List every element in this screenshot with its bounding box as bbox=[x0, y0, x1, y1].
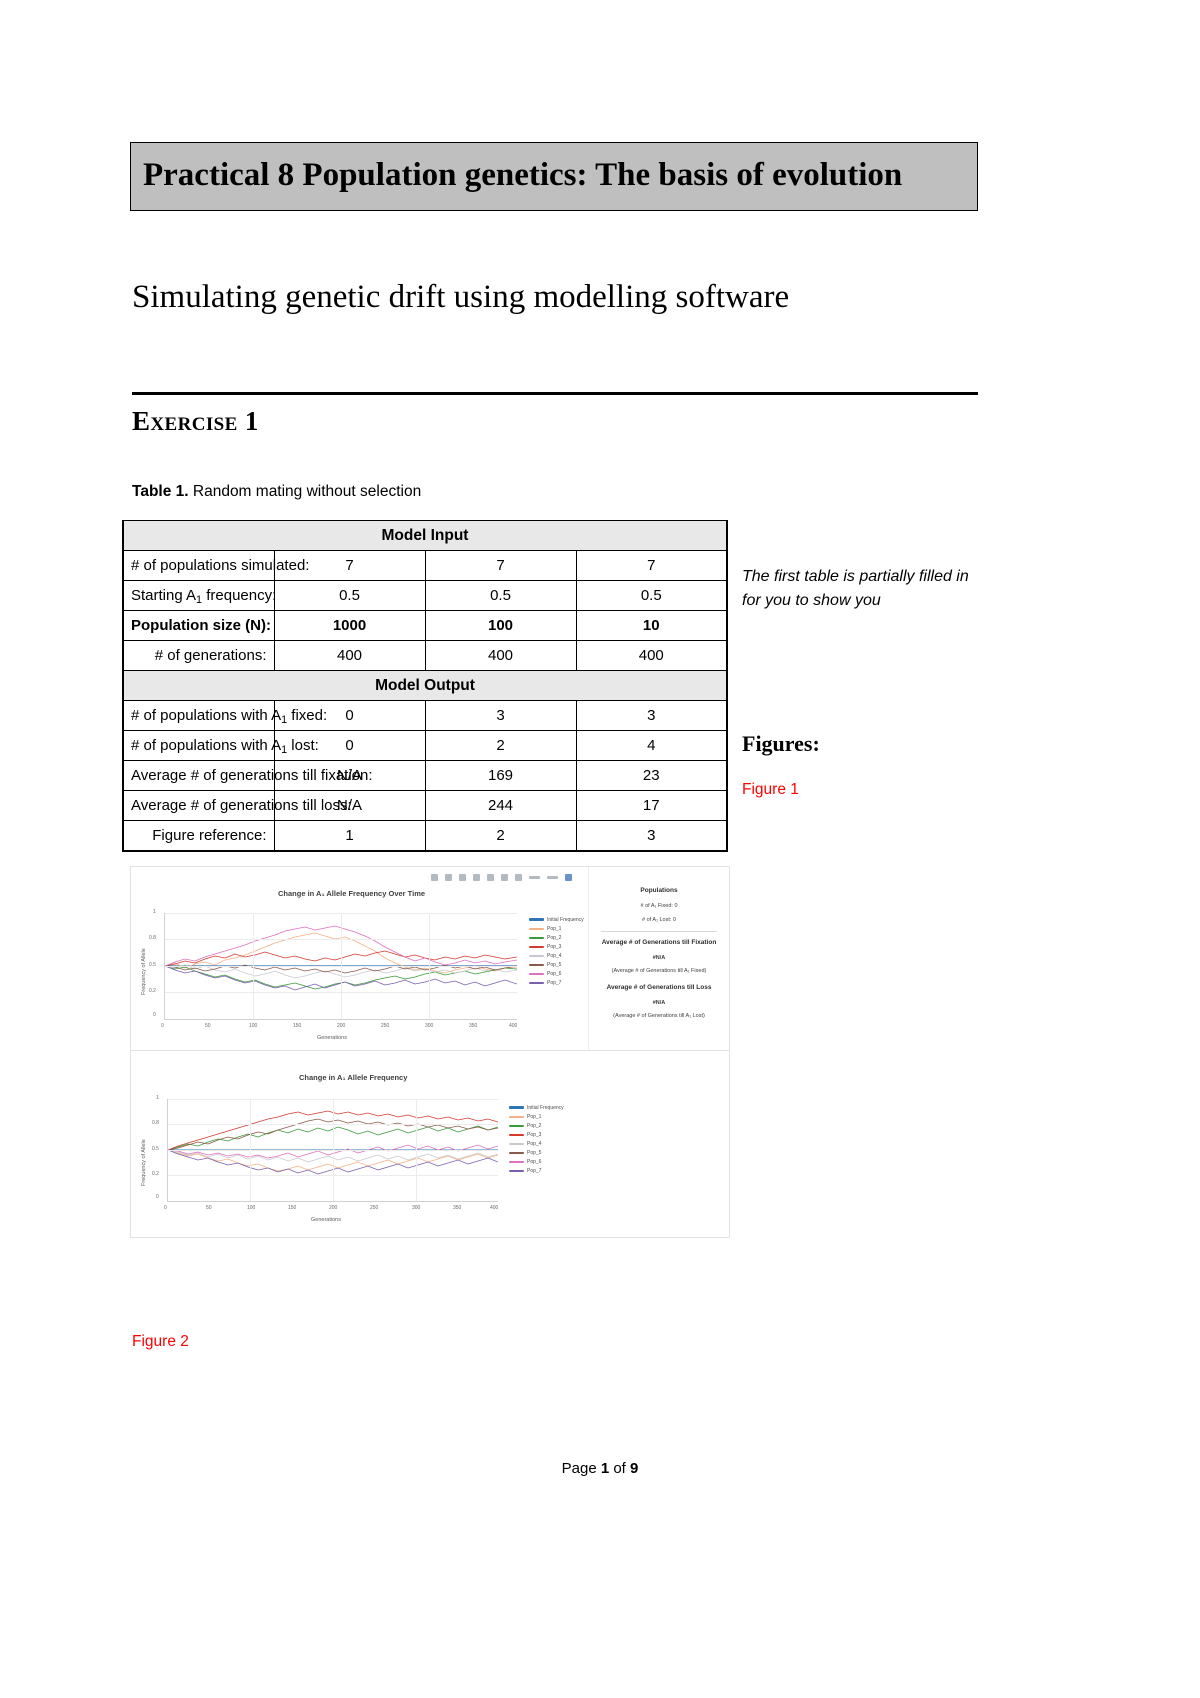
table-row: Population size (N): 1000 100 10 bbox=[123, 611, 727, 641]
row-label-figure-reference: Figure reference: bbox=[123, 821, 274, 852]
cell-value: 4 bbox=[576, 731, 727, 761]
section-label-model-output: Model Output bbox=[123, 671, 727, 701]
figure-2-screenshot: Change in A₁ Allele Frequency Frequency … bbox=[130, 1050, 730, 1238]
subscript-one: 1 bbox=[281, 714, 287, 726]
footer-page-number: 1 bbox=[601, 1460, 609, 1477]
legend-label: Pop_6 bbox=[527, 1159, 541, 1165]
instructor-note: The first table is partially filled in f… bbox=[742, 565, 970, 614]
legend-swatch bbox=[509, 1116, 524, 1118]
side-panel-fixation-note: (Average # of Generations till A₁ Fixed) bbox=[589, 968, 729, 974]
row-label-populations-lost: # of populations with A1 lost: bbox=[123, 731, 274, 761]
x-tick-label: 400 bbox=[509, 1023, 517, 1029]
legend-item: Pop_5 bbox=[509, 1148, 564, 1157]
legend-label: Pop_7 bbox=[547, 980, 561, 986]
cell-value: 2 bbox=[425, 821, 576, 852]
legend-swatch bbox=[509, 1125, 524, 1127]
sort-icon bbox=[515, 874, 522, 881]
legend-label: Initial Frequency bbox=[547, 917, 584, 923]
cell-value: 23 bbox=[576, 761, 727, 791]
legend-label: Pop_1 bbox=[547, 926, 561, 932]
y-tick-label: 0.8 bbox=[152, 1120, 159, 1126]
legend-item: Pop_3 bbox=[529, 942, 584, 951]
cell-value: 400 bbox=[274, 641, 425, 671]
plot-area: 0 50 100 150 200 250 300 350 400 1 0.8 0… bbox=[167, 1099, 498, 1202]
summary-side-panel: Populations # of A₁ Fixed: 0 # of A₁ Los… bbox=[588, 867, 729, 1051]
cell-value: 3 bbox=[576, 821, 727, 852]
x-tick-label: 0 bbox=[161, 1023, 164, 1029]
legend-swatch bbox=[509, 1106, 524, 1109]
legend-label: Pop_3 bbox=[547, 944, 561, 950]
legend-label: Pop_5 bbox=[547, 962, 561, 968]
y-tick-label: 1 bbox=[153, 909, 156, 915]
legend-item: Pop_2 bbox=[509, 1121, 564, 1130]
table-section-header-input: Model Input bbox=[123, 521, 727, 551]
figure-1-label: Figure 1 bbox=[742, 781, 799, 799]
legend-swatch bbox=[509, 1143, 524, 1145]
legend-label: Pop_1 bbox=[527, 1114, 541, 1120]
legend-swatch bbox=[509, 1152, 524, 1154]
figure-1-screenshot: Change in A₁ Allele Frequency Over Time … bbox=[130, 866, 730, 1052]
chart-title: Change in A₁ Allele Frequency bbox=[299, 1073, 407, 1082]
y-tick-label: 0 bbox=[156, 1194, 159, 1200]
save-icon bbox=[565, 874, 572, 881]
zoom-icon bbox=[445, 874, 452, 881]
x-tick-label: 250 bbox=[381, 1023, 389, 1029]
plot-area: 0 50 100 150 200 250 300 350 400 1 0.8 0… bbox=[164, 913, 517, 1020]
x-axis-title: Generations bbox=[311, 1217, 341, 1223]
y-tick-label: 1 bbox=[156, 1095, 159, 1101]
row-label-avg-generations-loss: Average # of generations till loss: bbox=[123, 791, 274, 821]
legend-swatch bbox=[529, 982, 544, 984]
x-tick-label: 100 bbox=[249, 1023, 257, 1029]
legend-label: Pop_4 bbox=[527, 1141, 541, 1147]
y-tick-label: 0 bbox=[153, 1012, 156, 1018]
cell-value: 1 bbox=[274, 821, 425, 852]
footer-prefix: Page bbox=[562, 1460, 601, 1477]
x-tick-label: 50 bbox=[206, 1205, 212, 1211]
legend-swatch bbox=[529, 937, 544, 939]
legend-item: Pop_7 bbox=[529, 978, 584, 987]
x-tick-label: 400 bbox=[490, 1205, 498, 1211]
cell-value: 2 bbox=[425, 731, 576, 761]
table-row: Average # of generations till loss: N/A … bbox=[123, 791, 727, 821]
side-panel-loss-value: #N/A bbox=[589, 1000, 729, 1006]
legend-item: Pop_1 bbox=[529, 924, 584, 933]
x-axis-title: Generations bbox=[317, 1035, 347, 1041]
filter-icon bbox=[459, 874, 466, 881]
section-divider bbox=[132, 392, 978, 395]
row-label-populations-fixed: # of populations with A1 fixed: bbox=[123, 701, 274, 731]
cell-value: 17 bbox=[576, 791, 727, 821]
page-title: Practical 8 Population genetics: The bas… bbox=[143, 153, 967, 198]
side-panel-loss-note: (Average # of Generations till A₁ Lost) bbox=[589, 1013, 729, 1019]
gridline bbox=[250, 1099, 251, 1201]
exercise-heading: Exercise 1 bbox=[132, 406, 259, 437]
legend-swatch bbox=[529, 964, 544, 966]
cell-value: 0.5 bbox=[425, 581, 576, 611]
align-center-icon bbox=[487, 874, 494, 881]
table-row: Figure reference: 1 2 3 bbox=[123, 821, 727, 852]
legend-swatch bbox=[529, 918, 544, 921]
border-icon bbox=[529, 876, 540, 879]
cell-value: 7 bbox=[576, 551, 727, 581]
x-tick-label: 300 bbox=[425, 1023, 433, 1029]
x-tick-label: 150 bbox=[288, 1205, 296, 1211]
legend-swatch bbox=[529, 973, 544, 975]
subscript-one: 1 bbox=[281, 744, 287, 756]
legend-item: Pop_2 bbox=[529, 933, 584, 942]
legend-item: Initial Frequency bbox=[509, 1103, 564, 1112]
cell-value: 400 bbox=[425, 641, 576, 671]
legend-item: Pop_3 bbox=[509, 1130, 564, 1139]
row-label-generations: # of generations: bbox=[123, 641, 274, 671]
cell-value: 100 bbox=[425, 611, 576, 641]
row-label-avg-generations-fixation: Average # of generations till fixation: bbox=[123, 761, 274, 791]
legend-item: Initial Frequency bbox=[529, 915, 584, 924]
cell-value: 3 bbox=[576, 701, 727, 731]
table-caption-text: Random mating without selection bbox=[189, 483, 422, 500]
table-caption-label: Table 1. bbox=[132, 483, 189, 500]
table-row: # of populations simulated: 7 7 7 bbox=[123, 551, 727, 581]
subscript-one: 1 bbox=[196, 594, 202, 606]
chart-title: Change in A₁ Allele Frequency Over Time bbox=[278, 889, 425, 898]
y-tick-label: 0.5 bbox=[149, 962, 156, 968]
legend-item: Pop_7 bbox=[509, 1166, 564, 1175]
legend-item: Pop_1 bbox=[509, 1112, 564, 1121]
side-panel-heading-populations: Populations bbox=[589, 887, 729, 894]
footer-total-pages: 9 bbox=[630, 1460, 638, 1477]
cell-value: 3 bbox=[425, 701, 576, 731]
fill-icon bbox=[547, 876, 558, 879]
legend-label: Pop_4 bbox=[547, 953, 561, 959]
align-left-icon bbox=[473, 874, 480, 881]
section-label-model-input: Model Input bbox=[123, 521, 727, 551]
spreadsheet-toolbar bbox=[431, 873, 591, 882]
gridline bbox=[253, 913, 254, 1019]
cell-value: 7 bbox=[425, 551, 576, 581]
table-row: # of populations with A1 fixed: 0 3 3 bbox=[123, 701, 727, 731]
x-tick-label: 300 bbox=[412, 1205, 420, 1211]
legend-label: Pop_7 bbox=[527, 1168, 541, 1174]
x-tick-label: 200 bbox=[337, 1023, 345, 1029]
table-row: # of generations: 400 400 400 bbox=[123, 641, 727, 671]
gridline bbox=[429, 913, 430, 1019]
y-tick-label: 0.5 bbox=[152, 1146, 159, 1152]
legend-label: Pop_6 bbox=[547, 971, 561, 977]
y-tick-label: 0.2 bbox=[152, 1171, 159, 1177]
legend-swatch bbox=[509, 1170, 524, 1172]
x-tick-label: 250 bbox=[370, 1205, 378, 1211]
caret-up-icon bbox=[501, 874, 508, 881]
legend-swatch bbox=[509, 1134, 524, 1136]
table-row: Starting A1 frequency: 0.5 0.5 0.5 bbox=[123, 581, 727, 611]
chart-legend: Initial Frequency Pop_1 Pop_2 Pop_3 Pop_… bbox=[509, 1103, 564, 1175]
page-footer: Page 1 of 9 bbox=[0, 1460, 1200, 1477]
figure-2-label: Figure 2 bbox=[132, 1333, 189, 1351]
side-panel-fixed-count: # of A₁ Fixed: 0 bbox=[589, 903, 729, 909]
legend-swatch bbox=[509, 1161, 524, 1163]
footer-middle: of bbox=[609, 1460, 630, 1477]
legend-item: Pop_6 bbox=[509, 1157, 564, 1166]
table-section-header-output: Model Output bbox=[123, 671, 727, 701]
cut-icon bbox=[431, 874, 438, 881]
legend-label: Pop_5 bbox=[527, 1150, 541, 1156]
y-axis-title: Frequency of Allele bbox=[141, 1139, 147, 1186]
legend-swatch bbox=[529, 928, 544, 930]
title-banner: Practical 8 Population genetics: The bas… bbox=[130, 142, 978, 211]
side-panel-divider bbox=[601, 931, 717, 932]
side-panel-lost-count: # of A₁ Lost: 0 bbox=[589, 917, 729, 923]
legend-item: Pop_4 bbox=[529, 951, 584, 960]
gridline bbox=[333, 1099, 334, 1201]
legend-item: Pop_5 bbox=[529, 960, 584, 969]
cell-value: 169 bbox=[425, 761, 576, 791]
x-tick-label: 100 bbox=[247, 1205, 255, 1211]
x-tick-label: 50 bbox=[205, 1023, 211, 1029]
cell-value: 0.5 bbox=[274, 581, 425, 611]
x-tick-label: 0 bbox=[164, 1205, 167, 1211]
figures-heading: Figures: bbox=[742, 731, 820, 757]
table-row: Average # of generations till fixation: … bbox=[123, 761, 727, 791]
table-caption: Table 1. Random mating without selection bbox=[132, 483, 421, 501]
cell-value: 10 bbox=[576, 611, 727, 641]
chart-legend: Initial Frequency Pop_1 Pop_2 Pop_3 Pop_… bbox=[529, 915, 584, 987]
gridline bbox=[341, 913, 342, 1019]
model-results-table: Model Input # of populations simulated: … bbox=[122, 520, 728, 852]
row-label-population-size: Population size (N): bbox=[123, 611, 274, 641]
gridline bbox=[416, 1099, 417, 1201]
legend-label: Initial Frequency bbox=[527, 1105, 564, 1111]
legend-swatch bbox=[529, 955, 544, 957]
y-tick-label: 0.8 bbox=[149, 935, 156, 941]
cell-value: 244 bbox=[425, 791, 576, 821]
x-tick-label: 350 bbox=[453, 1205, 461, 1211]
row-label-populations-simulated: # of populations simulated: bbox=[123, 551, 274, 581]
legend-swatch bbox=[529, 946, 544, 948]
y-tick-label: 0.2 bbox=[149, 988, 156, 994]
x-tick-label: 200 bbox=[329, 1205, 337, 1211]
x-tick-label: 350 bbox=[469, 1023, 477, 1029]
legend-label: Pop_2 bbox=[547, 935, 561, 941]
legend-item: Pop_4 bbox=[509, 1139, 564, 1148]
side-panel-heading-loss: Average # of Generations till Loss bbox=[589, 984, 729, 991]
x-tick-label: 150 bbox=[293, 1023, 301, 1029]
row-label-starting-frequency: Starting A1 frequency: bbox=[123, 581, 274, 611]
cell-value: 400 bbox=[576, 641, 727, 671]
table-row: # of populations with A1 lost: 0 2 4 bbox=[123, 731, 727, 761]
document-page: Practical 8 Population genetics: The bas… bbox=[0, 0, 1200, 1698]
legend-label: Pop_3 bbox=[527, 1132, 541, 1138]
y-axis-title: Frequency of Allele bbox=[141, 948, 147, 995]
cell-value: 0.5 bbox=[576, 581, 727, 611]
document-subtitle: Simulating genetic drift using modelling… bbox=[132, 275, 932, 320]
legend-item: Pop_6 bbox=[529, 969, 584, 978]
side-panel-heading-fixation: Average # of Generations till Fixation bbox=[589, 939, 729, 946]
cell-value: 1000 bbox=[274, 611, 425, 641]
legend-label: Pop_2 bbox=[527, 1123, 541, 1129]
side-panel-fixation-value: #N/A bbox=[589, 955, 729, 961]
